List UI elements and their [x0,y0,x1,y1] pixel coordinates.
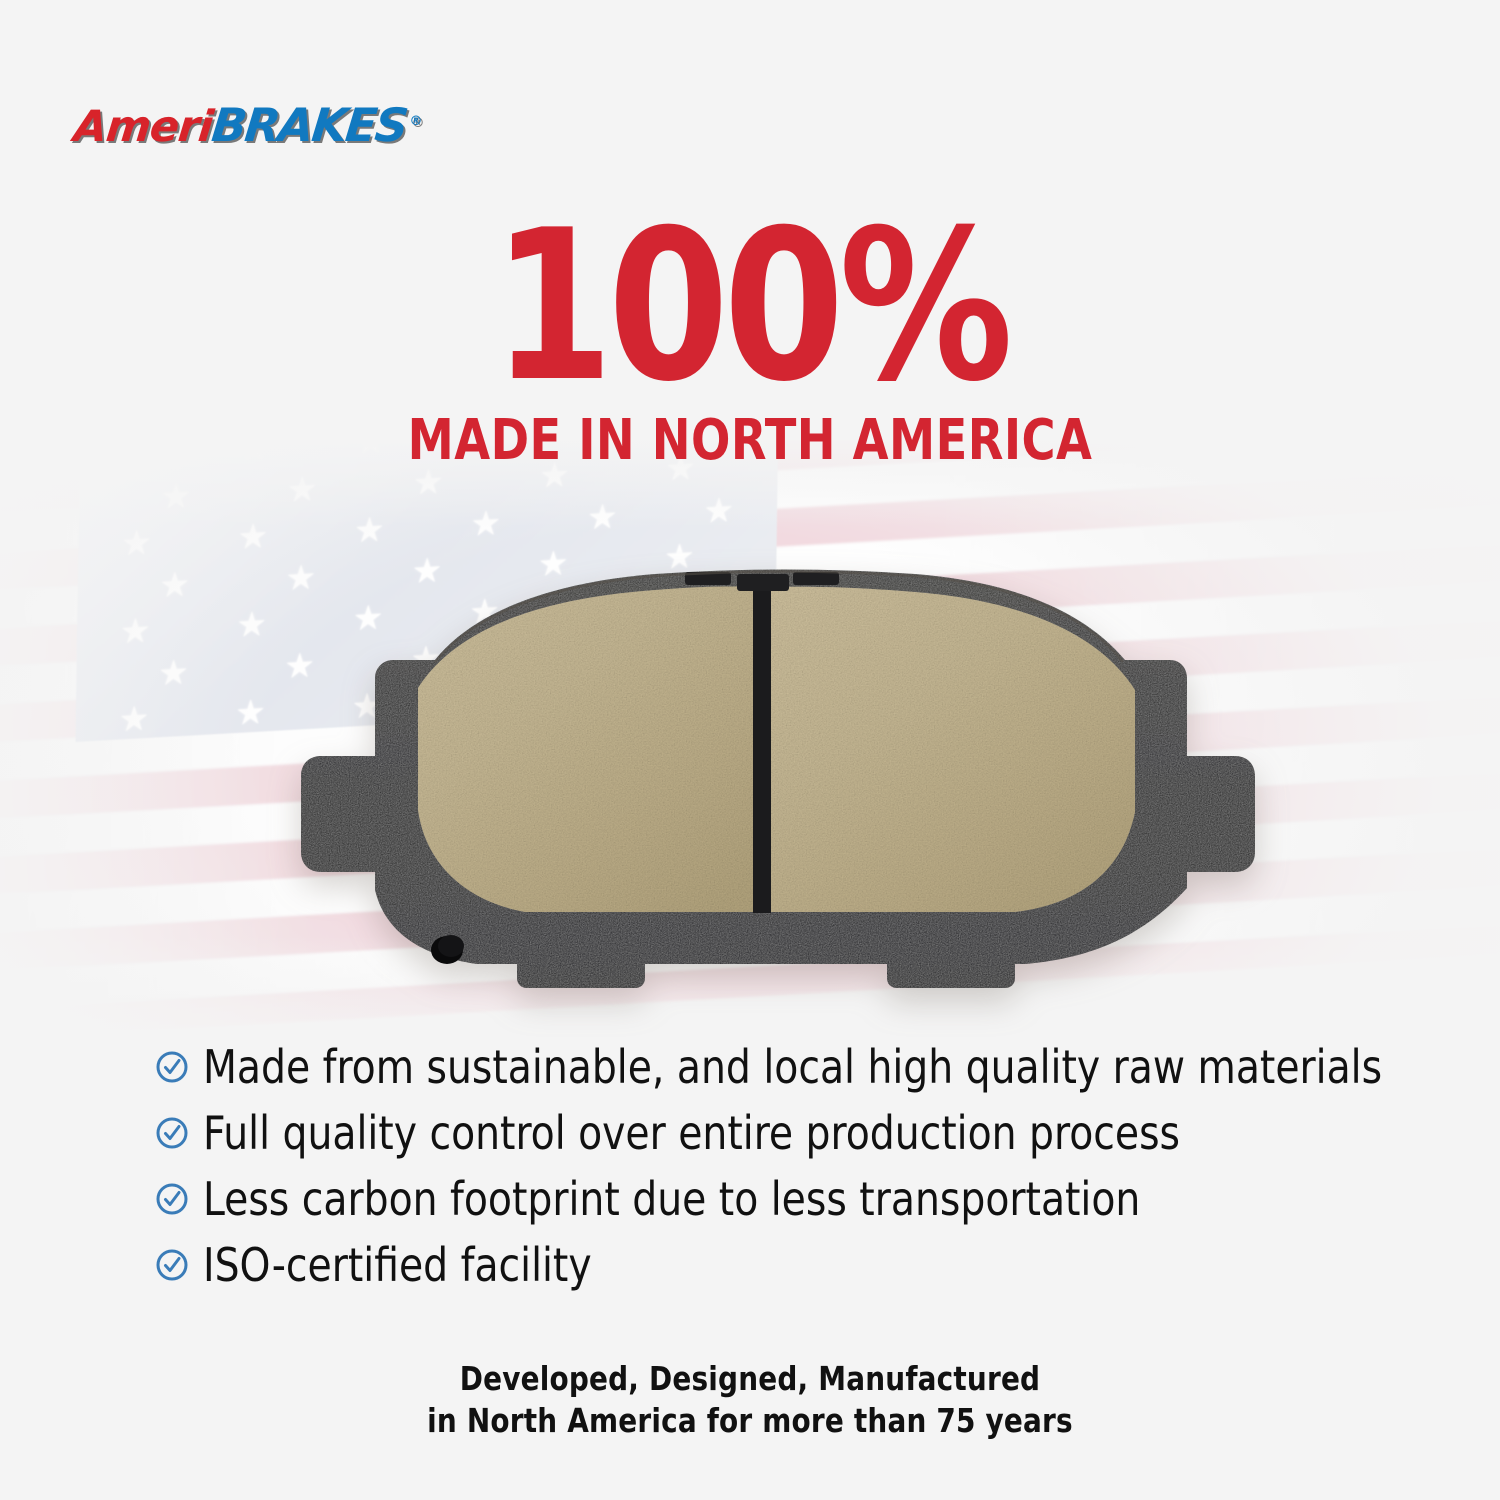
list-item-label: Made from sustainable, and local high qu… [203,1042,1382,1092]
brake-pad-mounting-hole-highlight [438,935,464,957]
friction-material [418,586,1135,912]
list-item: Full quality control over entire product… [155,1108,1405,1160]
list-item-label: Less carbon footprint due to less transp… [203,1174,1140,1224]
check-circle-icon [155,1182,189,1216]
headline-percent: 100% [53,212,1448,403]
list-item: Less carbon footprint due to less transp… [155,1174,1405,1226]
list-item-label: ISO-certified facility [203,1240,592,1290]
list-item: Made from sustainable, and local high qu… [155,1042,1405,1094]
list-item: ISO-certified facility [155,1240,1405,1292]
brake-pad-image [225,560,1325,1000]
flag-star-icon: ★ [160,479,191,515]
flag-star-icon: ★ [121,525,152,561]
ameribrakes-logo: AmeriBRAKES® [74,102,421,149]
registered-trademark-icon: ® [409,115,421,128]
flag-star-icon: ★ [703,493,734,529]
brake-pad-notch-top-right [793,572,839,585]
footer-tagline: Developed, Designed, Manufactured in Nor… [0,1358,1500,1442]
flag-star-icon: ★ [158,656,189,692]
footer-line-1: Developed, Designed, Manufactured [45,1358,1455,1400]
flag-star-icon: ★ [237,519,268,555]
ad-canvas: AmeriBRAKES® ★★★★★★ ★★★★★ ★★★★★★ ★★★★★ ★… [0,0,1500,1500]
brake-pad-slot-tab [737,574,789,591]
check-circle-icon [155,1116,189,1150]
footer-line-2: in North America for more than 75 years [45,1400,1455,1442]
flag-star-icon: ★ [119,702,150,738]
check-circle-icon [155,1248,189,1282]
brake-pad-center-slot [753,587,771,913]
flag-star-icon: ★ [287,472,318,508]
flag-star-icon: ★ [470,506,501,542]
logo-text-brakes: BRAKES [210,102,409,148]
check-circle-icon [155,1050,189,1084]
flag-star-icon: ★ [159,567,190,603]
feature-list: Made from sustainable, and local high qu… [155,1042,1405,1306]
flag-star-icon: ★ [587,499,618,535]
brake-pad-illustration [225,560,1325,1000]
flag-star-icon: ★ [354,512,385,548]
list-item-label: Full quality control over entire product… [203,1108,1180,1158]
headline-subtitle: MADE IN NORTH AMERICA [60,413,1440,469]
flag-star-icon: ★ [120,614,151,650]
logo-text-ameri: Ameri [72,106,215,149]
